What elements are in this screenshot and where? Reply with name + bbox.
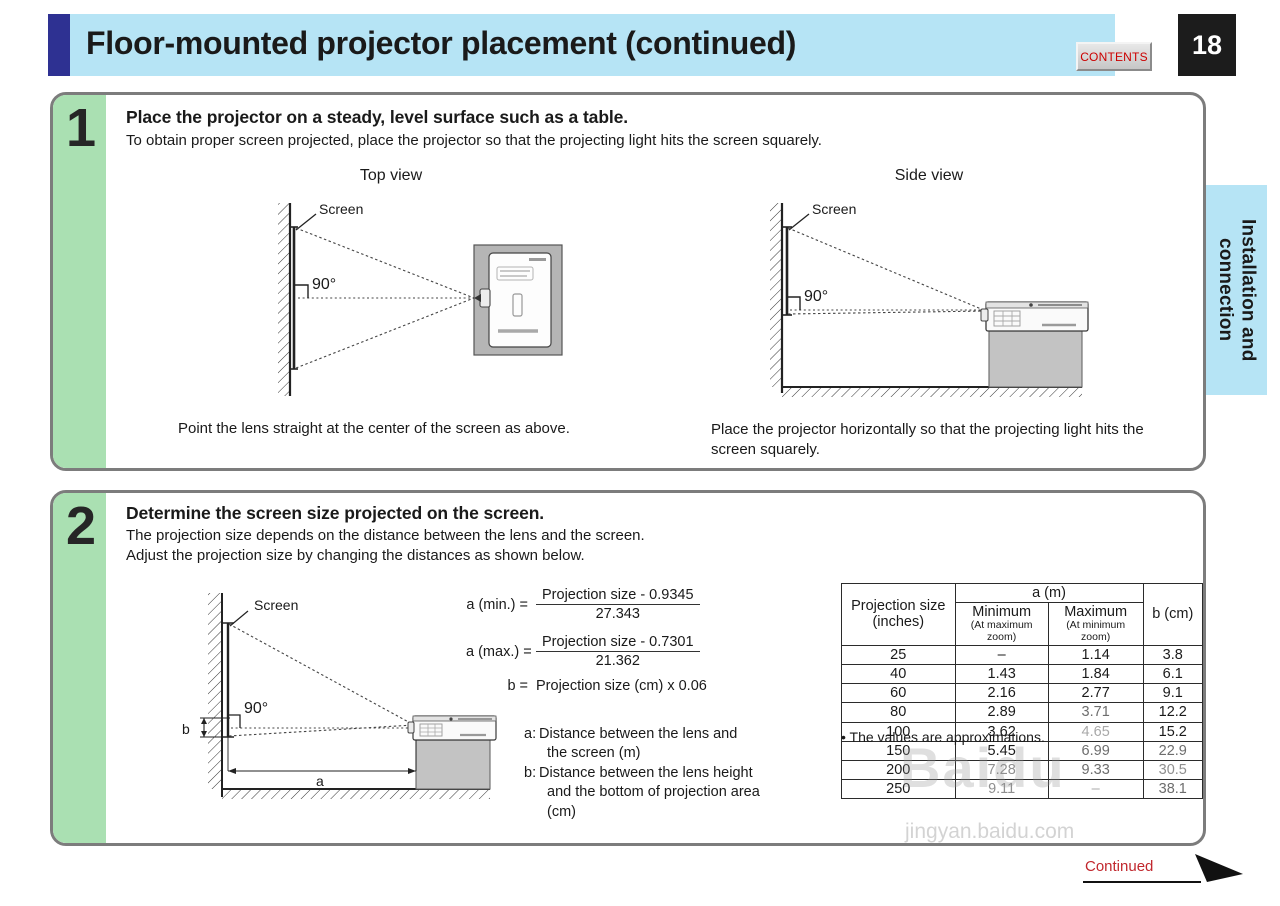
- legend-a-line2: the screen (m): [539, 744, 814, 763]
- formula-a-min-label: a (min.) =: [466, 597, 536, 613]
- cell-min: 2.16: [955, 684, 1048, 703]
- legend-block: a: Distance between the lens and the scr…: [524, 725, 814, 823]
- continued-arrow-icon: [1193, 852, 1245, 884]
- legend-b-line2: and the bottom of projection area: [539, 783, 814, 802]
- cell-max: –: [1048, 780, 1143, 799]
- legend-a-value: Distance between the lens and the screen…: [539, 725, 814, 763]
- step-2-subtext-line2: Adjust the projection size by changing t…: [126, 546, 1166, 566]
- cell-min: 7.28: [955, 760, 1048, 779]
- page-title: Floor-mounted projector placement (conti…: [86, 25, 986, 62]
- continued-rule: [1083, 881, 1201, 883]
- cell-max: 1.14: [1048, 645, 1143, 664]
- page-number-value: 18: [1192, 30, 1222, 61]
- header-maximum: Maximum (At minimum zoom): [1048, 603, 1143, 645]
- cell-b: 9.1: [1143, 684, 1203, 703]
- step-2-dim-a-label: a: [316, 773, 324, 789]
- header-minimum: Minimum (At maximum zoom): [955, 603, 1048, 645]
- step-2-heading: Determine the screen size projected on t…: [126, 503, 544, 524]
- header-accent-bar: [48, 14, 70, 76]
- cell-max: 9.33: [1048, 760, 1143, 779]
- step-1-subtext: To obtain proper screen projected, place…: [126, 131, 1166, 151]
- top-view-diagram: Top view: [216, 167, 566, 402]
- cell-b: 15.2: [1143, 722, 1203, 741]
- legend-b-value: Distance between the lens height and the…: [539, 764, 814, 821]
- contents-button[interactable]: CONTENTS: [1076, 42, 1152, 71]
- side-view-diagram: Side view: [754, 167, 1104, 402]
- header-projection-size-unit: (inches): [872, 614, 924, 630]
- side-view-caption-line1: Place the projector horizontally so that…: [711, 420, 1181, 440]
- step-2-diagram: Screen 90° b a: [178, 585, 508, 810]
- formula-a-max: a (max.) = Projection size - 0.7301 21.3…: [466, 634, 816, 669]
- top-view-caption: Point the lens straight at the center of…: [178, 420, 570, 437]
- side-view-caption-line2: screen squarely.: [711, 440, 1181, 460]
- legend-b-line3: (cm): [539, 803, 814, 822]
- side-view-title: Side view: [754, 167, 1104, 185]
- legend-item-a: a: Distance between the lens and the scr…: [524, 725, 814, 763]
- top-view-angle-label: 90°: [312, 276, 336, 294]
- legend-b-line1: Distance between the lens height: [539, 764, 814, 783]
- table-row: 200 7.28 9.33 30.5: [842, 760, 1203, 779]
- cell-min: –: [955, 645, 1048, 664]
- step-1-body: Place the projector on a steady, level s…: [106, 95, 1203, 468]
- cell-size: 25: [842, 645, 956, 664]
- step-2-panel: 2 Determine the screen size projected on…: [50, 490, 1206, 846]
- formula-b: b = Projection size (cm) x 0.06: [466, 678, 816, 694]
- table-row: 60 2.16 2.77 9.1: [842, 684, 1203, 703]
- header-projection-size-main: Projection size: [851, 598, 945, 614]
- cell-b: 30.5: [1143, 760, 1203, 779]
- formula-a-max-fraction: Projection size - 0.7301 21.362: [536, 634, 700, 669]
- step-2-diagram-svg: [178, 585, 508, 810]
- cell-max: 6.99: [1048, 741, 1143, 760]
- cell-b: 6.1: [1143, 664, 1203, 683]
- table-header-row-1: Projection size (inches) a (m) b (cm): [842, 584, 1203, 603]
- step-2-subtext: The projection size depends on the dista…: [126, 526, 1166, 567]
- formula-a-max-denominator: 21.362: [536, 652, 700, 669]
- step-2-body: Determine the screen size projected on t…: [106, 493, 1203, 843]
- step-2-dim-b-label: b: [182, 721, 190, 737]
- continued-label: Continued: [1085, 858, 1153, 875]
- cell-max: 1.84: [1048, 664, 1143, 683]
- step-2-subtext-line1: The projection size depends on the dista…: [126, 526, 1166, 546]
- header-group-a: a (m): [955, 584, 1143, 603]
- page-number-badge: 18: [1178, 14, 1236, 76]
- projection-size-table-wrap: Projection size (inches) a (m) b (cm) Mi…: [841, 583, 1203, 799]
- document-page: Floor-mounted projector placement (conti…: [0, 0, 1280, 906]
- cell-max: 3.71: [1048, 703, 1143, 722]
- step-2-strip: 2: [53, 493, 106, 843]
- formula-b-label: b =: [466, 678, 536, 694]
- step-2-number: 2: [61, 499, 101, 553]
- side-view-caption: Place the projector horizontally so that…: [711, 420, 1181, 461]
- formula-a-max-numerator: Projection size - 0.7301: [536, 634, 700, 652]
- cell-b: 3.8: [1143, 645, 1203, 664]
- table-row: 40 1.43 1.84 6.1: [842, 664, 1203, 683]
- formula-a-min-numerator: Projection size - 0.9345: [536, 587, 700, 605]
- step-1-number: 1: [61, 101, 101, 155]
- table-row: 250 9.11 – 38.1: [842, 780, 1203, 799]
- step-2-angle-label: 90°: [244, 700, 268, 718]
- table-row: 25 – 1.14 3.8: [842, 645, 1203, 664]
- header-b-cm: b (cm): [1143, 584, 1203, 646]
- cell-b: 12.2: [1143, 703, 1203, 722]
- cell-max: 4.65: [1048, 722, 1143, 741]
- top-view-svg: [216, 197, 566, 402]
- side-view-angle-label: 90°: [804, 288, 828, 306]
- cell-min: 1.43: [955, 664, 1048, 683]
- cell-size: 250: [842, 780, 956, 799]
- step-1-heading: Place the projector on a steady, level s…: [126, 107, 628, 128]
- formula-a-max-label: a (max.) =: [466, 644, 536, 660]
- side-tab-label: Installation and connection: [1214, 219, 1259, 362]
- cell-size: 200: [842, 760, 956, 779]
- step-2-screen-label: Screen: [254, 597, 298, 613]
- top-view-title: Top view: [216, 167, 566, 185]
- step-1-strip: 1: [53, 95, 106, 468]
- formula-block: a (min.) = Projection size - 0.9345 27.3…: [466, 587, 816, 703]
- cell-min: 2.89: [955, 703, 1048, 722]
- contents-button-label: CONTENTS: [1080, 50, 1148, 64]
- cell-size: 40: [842, 664, 956, 683]
- formula-b-expression: Projection size (cm) x 0.06: [536, 678, 707, 694]
- cell-size: 80: [842, 703, 956, 722]
- legend-b-key: b:: [524, 764, 539, 821]
- legend-item-b: b: Distance between the lens height and …: [524, 764, 814, 821]
- top-view-screen-label: Screen: [319, 201, 363, 217]
- formula-a-min-fraction: Projection size - 0.9345 27.343: [536, 587, 700, 622]
- cell-size: 60: [842, 684, 956, 703]
- side-tab-installation-and-connection: Installation and connection: [1205, 185, 1267, 395]
- header-projection-size: Projection size (inches): [842, 584, 956, 646]
- formula-a-min: a (min.) = Projection size - 0.9345 27.3…: [466, 587, 816, 622]
- legend-a-key: a:: [524, 725, 539, 763]
- step-1-panel: 1 Place the projector on a steady, level…: [50, 92, 1206, 471]
- formula-a-min-denominator: 27.343: [536, 605, 700, 622]
- cell-b: 22.9: [1143, 741, 1203, 760]
- cell-min: 9.11: [955, 780, 1048, 799]
- cell-max: 2.77: [1048, 684, 1143, 703]
- header-maximum-main: Maximum: [1064, 604, 1127, 620]
- legend-a-line1: Distance between the lens and: [539, 725, 814, 744]
- cell-b: 38.1: [1143, 780, 1203, 799]
- header-minimum-note: (At maximum zoom): [960, 620, 1044, 643]
- projection-size-table: Projection size (inches) a (m) b (cm) Mi…: [841, 583, 1203, 799]
- table-row: 80 2.89 3.71 12.2: [842, 703, 1203, 722]
- side-view-screen-label: Screen: [812, 201, 856, 217]
- header-maximum-note: (At minimum zoom): [1053, 620, 1139, 643]
- table-note: • The values are approximations.: [841, 729, 1045, 745]
- header-minimum-main: Minimum: [972, 604, 1031, 620]
